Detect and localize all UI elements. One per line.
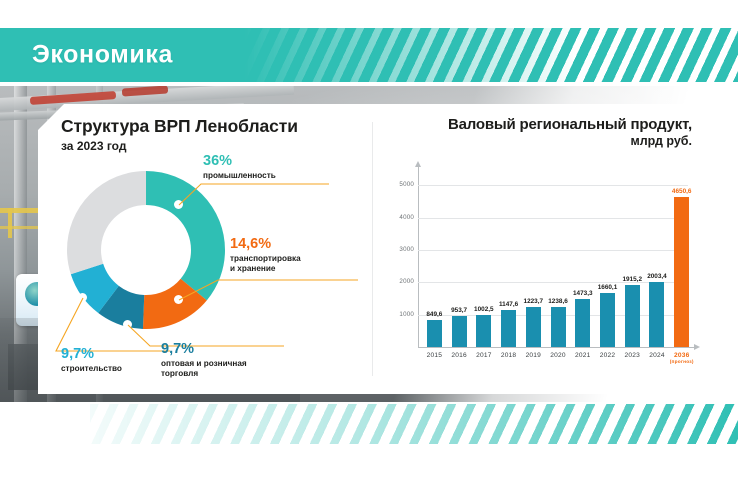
callout-construction-name: строительство [61,364,122,374]
bar-group[interactable]: 1660,1 [595,166,620,347]
x-axis-tick-label: 2018 [496,352,521,365]
x-axis-tick-label: 2016 [447,352,472,365]
bar-chart-panel: Валовый региональный продукт, млрд руб. … [372,104,706,394]
bar-value-label: 1915,2 [622,276,642,283]
bar-group[interactable]: 2003,4 [645,166,670,347]
bar-group[interactable]: 1002,5 [471,166,496,347]
callout-industry-name: промышленность [203,171,276,181]
bar[interactable] [649,282,664,347]
bar-value-label: 1660,1 [598,284,618,291]
bar-value-label: 953,7 [451,307,467,314]
y-axis [418,166,419,348]
bar-group[interactable]: 1223,7 [521,166,546,347]
y-axis-tick-label: 3000 [386,246,414,253]
bar-group[interactable]: 953,7 [447,166,472,347]
callout-construction-percent: 9,7% [61,347,122,362]
y-axis-tick-label: 1000 [386,311,414,318]
callout-transport-percent: 14,6% [230,237,301,252]
callout-transport-name-line1: транспортировка [230,254,301,264]
callout-transport: 14,6% транспортировка и хранение [230,237,301,275]
bar-value-label: 2003,4 [647,273,667,280]
bar[interactable] [427,320,442,347]
x-axis-tick-label: 2024 [645,352,670,365]
callout-construction: 9,7% строительство [61,347,122,374]
bar-value-label: 849,6 [426,311,442,318]
callout-trade-name-line1: оптовая и розничная [161,359,247,369]
y-axis-tick-label: 5000 [386,181,414,188]
bar-value-label: 4650,6 [672,188,692,195]
bar-group[interactable]: 4650,6 [669,166,694,347]
x-axis-forecast-note: (прогноз) [669,360,694,365]
callout-trade-percent: 9,7% [161,342,247,357]
callout-industry: 36% промышленность [203,154,276,181]
bar-value-label: 1473,3 [573,290,593,297]
header-banner: Экономика [0,28,738,82]
footer-stripe-band [0,404,738,444]
content-card: Структура ВРП Ленобласти за 2023 год [38,104,706,394]
x-axis-tick-label: 2022 [595,352,620,365]
footer-diagonal-stripes [90,404,738,444]
bar-plot-area: 50004000300020001000 849,6953,71002,5114… [386,166,696,356]
callout-industry-percent: 36% [203,154,276,169]
callout-trade-name-line2: торговля [161,369,247,379]
bar-group[interactable]: 1238,6 [546,166,571,347]
x-axis-tick-label: 2017 [471,352,496,365]
x-axis-tick-label: 2015 [422,352,447,365]
bar-title: Валовый региональный продукт, [386,116,692,133]
donut-chart-panel: Структура ВРП Ленобласти за 2023 год [38,104,372,394]
bar-group[interactable]: 1473,3 [570,166,595,347]
bar-value-label: 1002,5 [474,306,494,313]
x-axis-tick-label: 2036(прогноз) [669,352,694,365]
bar[interactable] [526,307,541,347]
callout-transport-name-line2: и хранение [230,264,301,274]
slide-root: Экономика Структура ВРП Ленобласти за 20… [0,0,738,492]
bar-group[interactable]: 849,6 [422,166,447,347]
y-axis-tick-label: 4000 [386,214,414,221]
bar[interactable] [501,310,516,347]
bar[interactable] [476,315,491,347]
bar[interactable] [575,299,590,347]
bar-group[interactable]: 1147,6 [496,166,521,347]
x-axis-tick-label: 2019 [521,352,546,365]
leader-transport [179,280,358,300]
y-axis-tick-label: 2000 [386,278,414,285]
x-axis-tick-label: 2021 [570,352,595,365]
bar-group[interactable]: 1915,2 [620,166,645,347]
bar[interactable] [600,293,615,347]
x-axis-tick-label: 2020 [546,352,571,365]
bar-subtitle: млрд руб. [386,134,692,148]
bar-series: 849,6953,71002,51147,61223,71238,61473,3… [422,166,694,347]
bar-forecast[interactable] [674,197,689,347]
banner-title: Экономика [32,41,173,70]
bar-value-label: 1223,7 [524,298,544,305]
callout-trade: 9,7% оптовая и розничная торговля [161,342,247,380]
x-axis-labels: 2015201620172018201920202021202220232024… [422,352,694,365]
leader-industry [179,184,329,205]
bar[interactable] [452,316,467,347]
bar[interactable] [625,285,640,347]
leader-construction [56,298,170,351]
x-axis-tick-label: 2023 [620,352,645,365]
bar-title-block: Валовый региональный продукт, млрд руб. [386,116,692,148]
bar-value-label: 1147,6 [499,301,518,308]
x-axis [418,347,694,348]
bar-value-label: 1238,6 [548,298,568,305]
bar[interactable] [551,307,566,347]
